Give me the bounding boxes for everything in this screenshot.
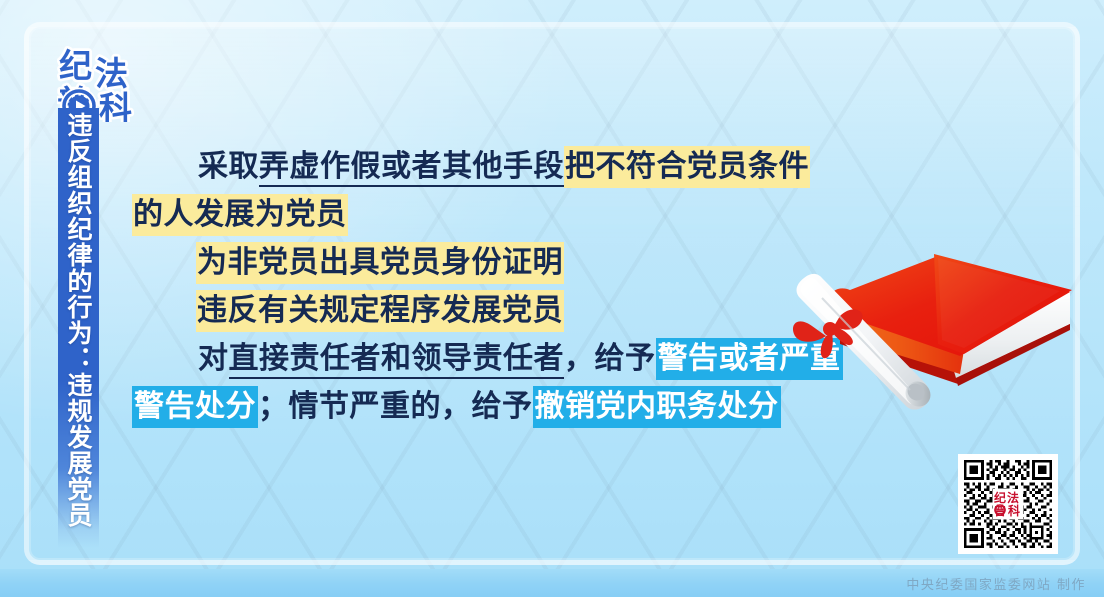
poster-canvas: 纪 法 普 科 纪 法 普 科 违反组织纪律的行为：违规发展党员 采取弄虚作 [0, 0, 1104, 597]
category-banner-text: 违反组织纪律的行为：违规发展党员 [58, 112, 99, 542]
svg-text:科: 科 [1008, 503, 1020, 518]
text-line-2: 的人发展为党员 [132, 191, 822, 239]
svg-text:纪: 纪 [994, 490, 1006, 505]
text-segment: 对 [198, 341, 229, 376]
text-segment-highlight-yellow: 为非党员出具党员身份证明 [196, 242, 564, 284]
text-line-3: 为非党员出具党员身份证明 [132, 239, 822, 287]
text-line-4: 违反有关规定程序发展党员 [132, 287, 822, 335]
text-segment-highlight-yellow: 的人发展为党员 [132, 194, 348, 236]
svg-text:法: 法 [95, 54, 128, 93]
text-segment-highlight-cyan: 警告处分 [132, 386, 258, 428]
text-segment-highlight-cyan: 撤销党内职务处分 [533, 386, 781, 428]
svg-text:科: 科 [99, 89, 132, 122]
svg-text:法: 法 [1007, 490, 1019, 505]
text-segment: 采取 [198, 149, 259, 184]
text-segment: ；情节严重的，给予 [258, 389, 533, 424]
qr-center-logo: 纪 法 普 科 [993, 489, 1023, 519]
text-segment-underlined: 直接责任者和领导责任者 [229, 341, 565, 379]
text-segment-highlight-yellow: 把不符合党员条件 [564, 146, 810, 188]
regulation-text-block: 采取弄虚作假或者其他手段把不符合党员条件 的人发展为党员 为非党员出具党员身份证… [132, 143, 822, 431]
text-line-5: 对直接责任者和领导责任者，给予警告或者严重 [132, 335, 822, 383]
text-line-6: 警告处分；情节严重的，给予撤销党内职务处分 [132, 383, 822, 431]
text-segment-underlined: 弄虚作假或者其他手段 [259, 149, 564, 187]
text-segment-highlight-yellow: 违反有关规定程序发展党员 [196, 290, 564, 332]
text-segment: ，给予 [564, 341, 656, 376]
qr-code[interactable]: 纪 法 普 科 [958, 454, 1058, 554]
svg-text:纪: 纪 [59, 46, 92, 85]
text-line-1: 采取弄虚作假或者其他手段把不符合党员条件 [132, 143, 822, 191]
illustration-red-book-and-scroll [788, 198, 1078, 434]
footer-credit: 中央纪委国家监委网站 制作 [906, 574, 1086, 593]
